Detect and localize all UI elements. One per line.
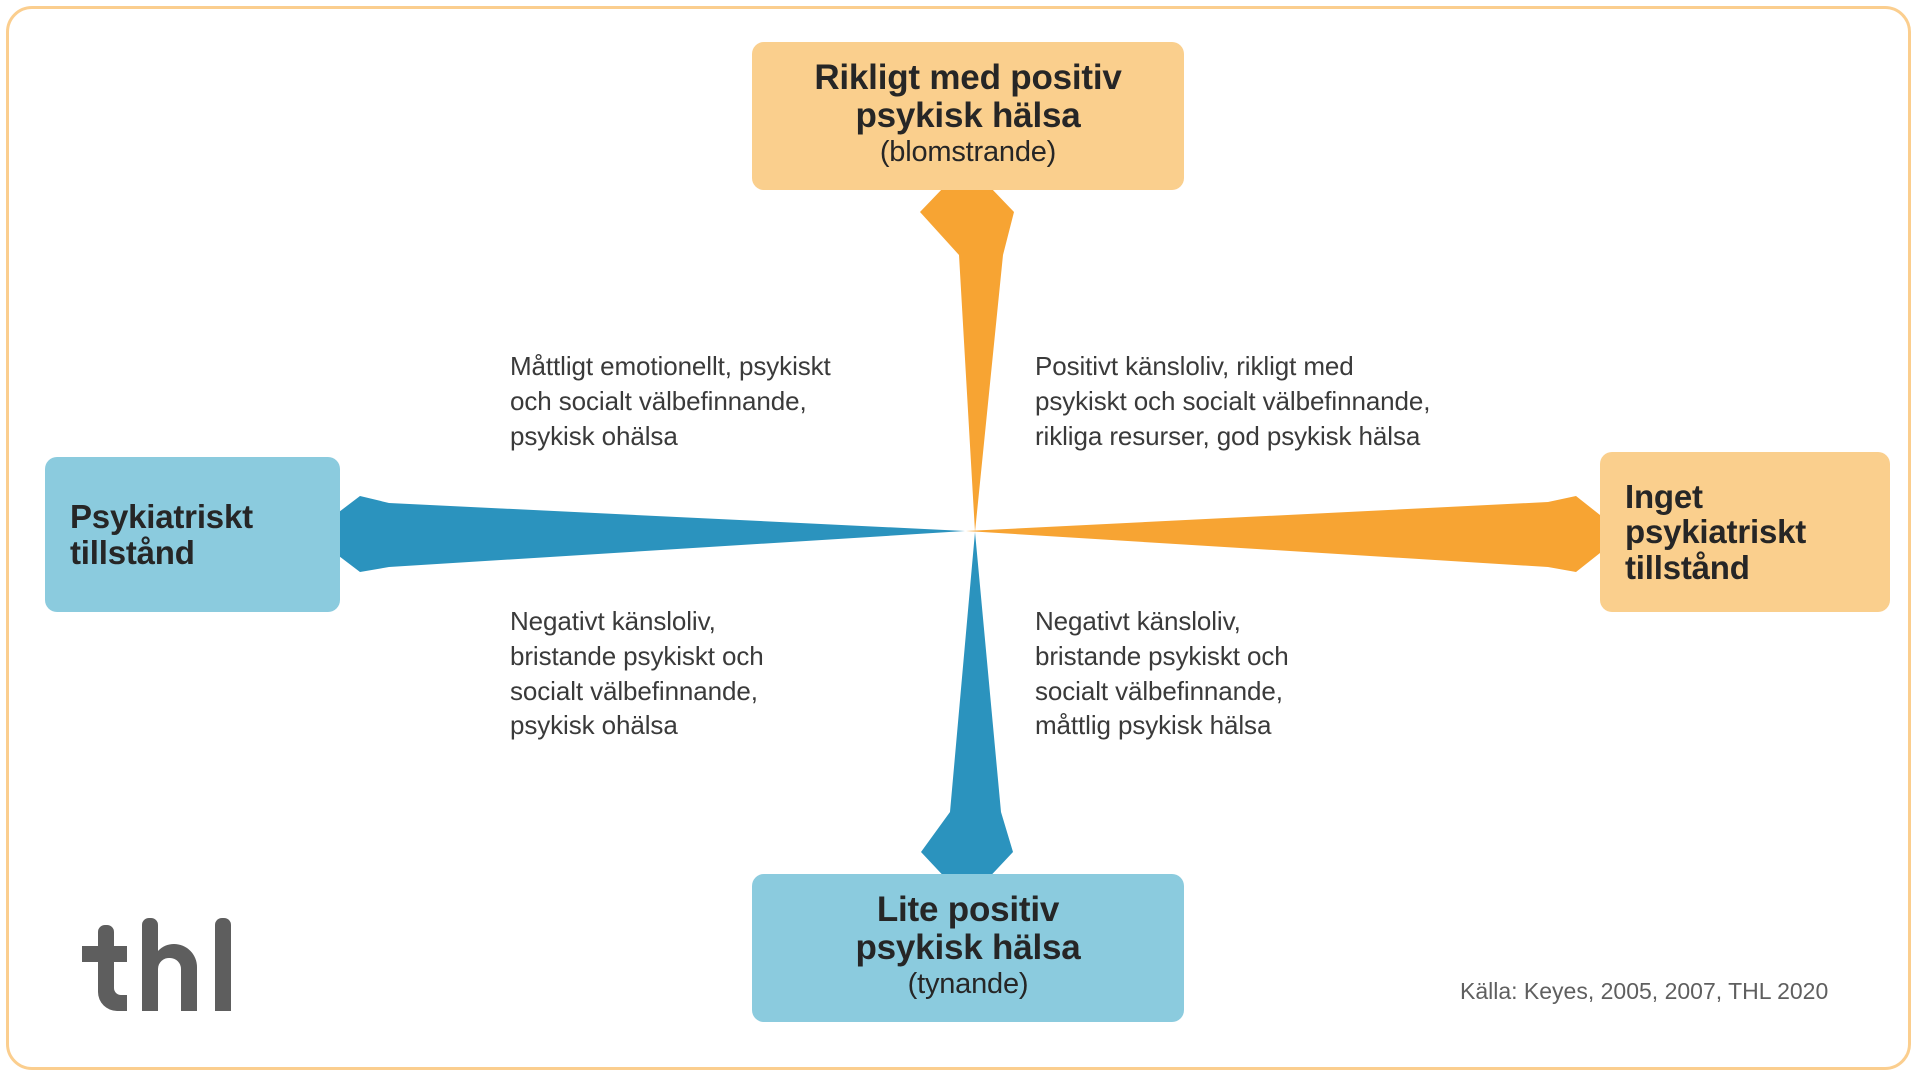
source-note: Källa: Keyes, 2005, 2007, THL 2020 xyxy=(1460,978,1828,1005)
thl-logo xyxy=(72,918,242,1018)
box-top-subtitle: (blomstrande) xyxy=(880,137,1056,169)
node-box-bottom[interactable]: Lite positiv psykisk hälsa (tynande) xyxy=(752,874,1184,1022)
quadrant-text-bottom-right: Negativt känsloliv, bristande psykiskt o… xyxy=(1035,604,1455,743)
diagram-canvas: Rikligt med positiv psykisk hälsa (bloms… xyxy=(0,0,1921,1080)
node-box-top[interactable]: Rikligt med positiv psykisk hälsa (bloms… xyxy=(752,42,1184,190)
box-top-title: Rikligt med positiv psykisk hälsa xyxy=(814,59,1121,135)
arrow-up xyxy=(920,163,1014,532)
node-box-right[interactable]: Inget psykiatriskt tillstånd xyxy=(1600,452,1890,612)
quadrant-text-bottom-left: Negativt känsloliv, bristande psykiskt o… xyxy=(510,604,930,743)
box-bottom-subtitle: (tynande) xyxy=(908,969,1029,1001)
box-bottom-title: Lite positiv psykisk hälsa xyxy=(855,891,1080,967)
arrow-right xyxy=(966,496,1624,572)
box-left-title: Psykiatriskt tillstånd xyxy=(70,499,253,570)
arrow-down xyxy=(921,532,1013,901)
quadrant-text-top-right: Positivt känsloliv, rikligt med psykiskt… xyxy=(1035,349,1545,453)
arrow-left xyxy=(310,496,965,572)
box-right-title: Inget psykiatriskt tillstånd xyxy=(1625,479,1806,586)
quadrant-text-top-left: Måttligt emotionellt, psykiskt och socia… xyxy=(510,349,930,453)
node-box-left[interactable]: Psykiatriskt tillstånd xyxy=(45,457,340,612)
